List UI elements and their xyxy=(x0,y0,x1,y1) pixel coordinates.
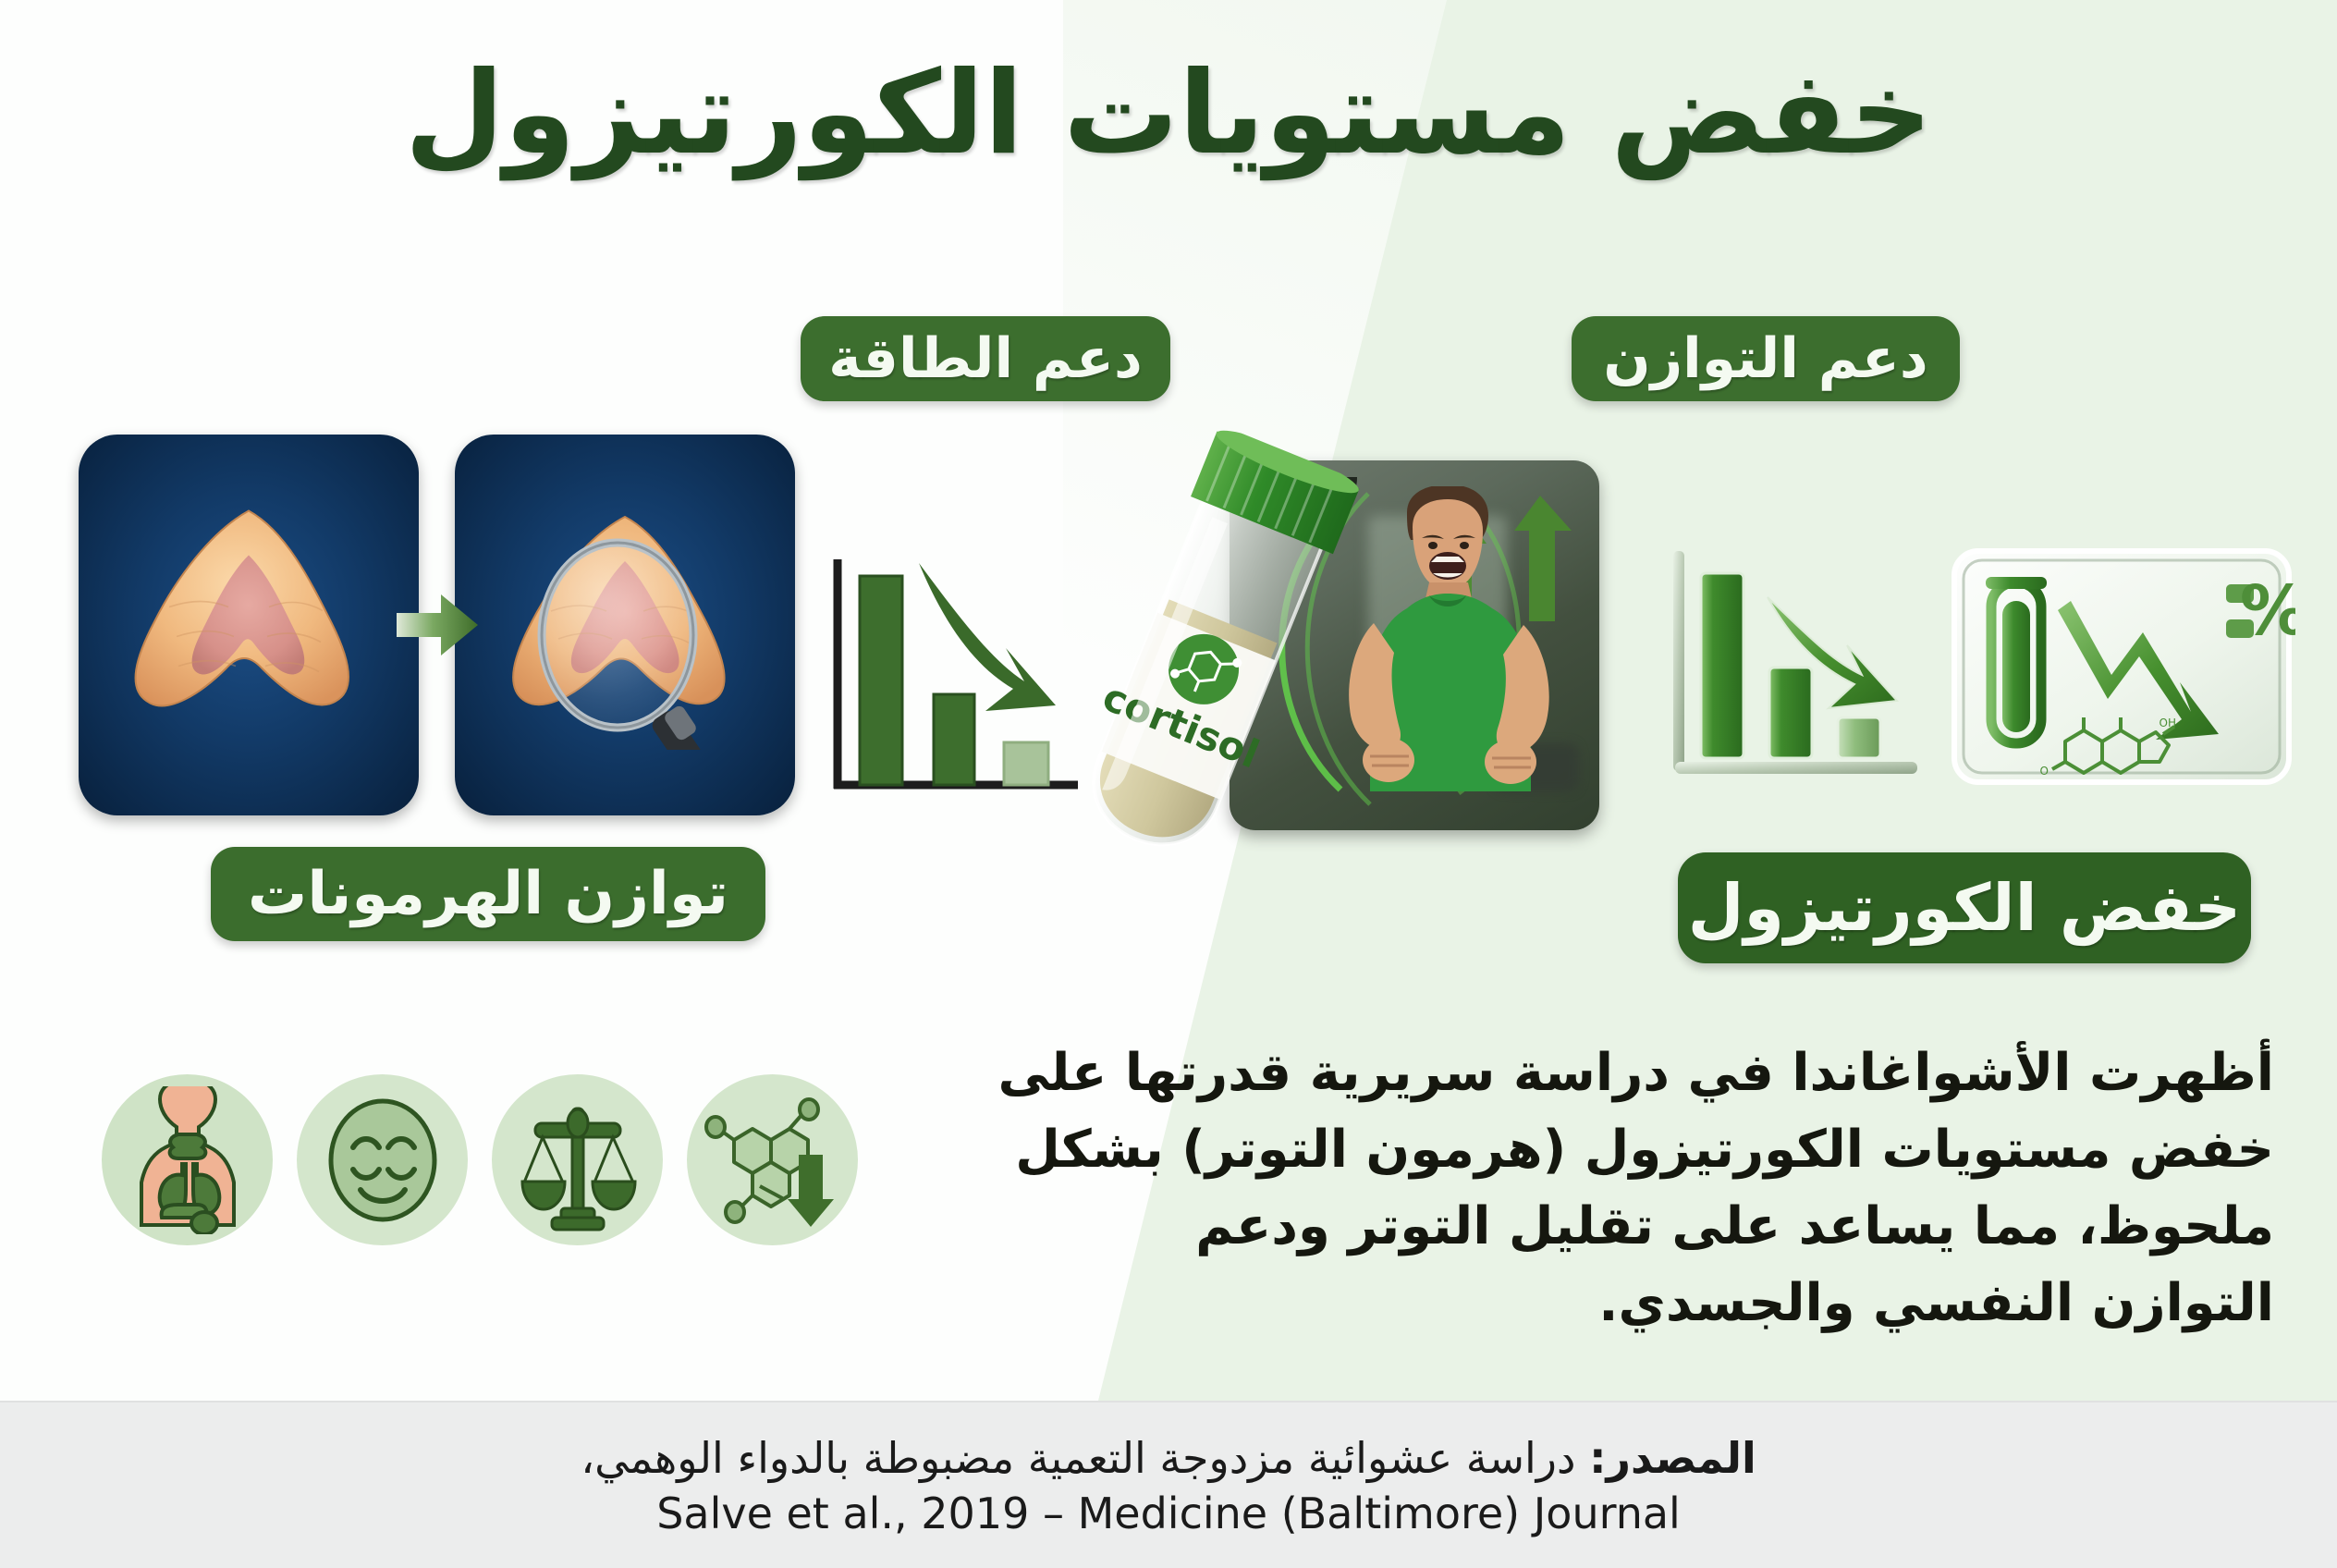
infographic-canvas: خفض مستويات الكورتيزول دعم الطاقة دعم ال… xyxy=(0,0,2337,1568)
cortisol-description-paragraph: أظهرت الأشواغاندا في دراسة سريرية قدرتها… xyxy=(1183,1035,2274,1342)
badge-support-energy: دعم الطاقة xyxy=(801,316,1170,401)
badge-support-balance: دعم التوازن xyxy=(1572,316,1960,401)
footer-source-label: المصدر: xyxy=(1589,1433,1756,1483)
source-footer: المصدر: دراسة عشوائية مزدوجة التعمية مضب… xyxy=(0,1401,2337,1568)
transition-arrow-icon xyxy=(395,589,480,661)
molecule-down-arrow-icon xyxy=(687,1074,858,1245)
paragraph-line-3: ملحوظ، مما يساعد على تقليل التوتر ودعم xyxy=(1183,1189,2274,1266)
benefit-icons-row xyxy=(100,1074,858,1268)
body-endocrine-icon xyxy=(102,1074,273,1245)
paragraph-line-2: خفض مستويات الكورتيزول (هرمون التوتر) بش… xyxy=(1183,1112,2274,1189)
balance-scale-icon xyxy=(492,1074,663,1245)
lab-results-glass-panel: % O OH xyxy=(1949,544,2295,793)
glossy-declining-bar-chart-icon xyxy=(1666,536,1943,814)
svg-text:%: % xyxy=(2240,571,2295,651)
magnifier-icon xyxy=(542,543,714,750)
footer-source-text: دراسة عشوائية مزدوجة التعمية مضبوطة بالد… xyxy=(581,1433,1575,1483)
svg-text:O: O xyxy=(2040,765,2049,778)
adrenal-gland-magnified-icon xyxy=(486,500,764,750)
page-title: خفض مستويات الكورتيزول xyxy=(0,46,2337,181)
footer-source-english: Salve et al., 2019 – Medicine (Baltimore… xyxy=(656,1488,1681,1538)
footer-source-arabic: المصدر: دراسة عشوائية مزدوجة التعمية مضب… xyxy=(581,1433,1756,1483)
badge-reduce-cortisol: خفض الكورتيزول xyxy=(1678,852,2251,963)
paragraph-line-4: التوازن النفسي والجسدي. xyxy=(1183,1266,2274,1342)
adrenal-card-normal xyxy=(79,435,419,815)
svg-text:OH: OH xyxy=(2160,717,2176,729)
calm-face-icon xyxy=(297,1074,468,1245)
badge-hormone-balance: توازن الهرمونات xyxy=(211,847,765,941)
cortisol-hero-visual: cortisol xyxy=(1230,460,1599,830)
adrenal-comparison-group xyxy=(79,435,795,815)
panel-test-tube-icon xyxy=(1986,577,2047,743)
adrenal-gland-normal-icon xyxy=(110,498,387,753)
paragraph-line-1: أظهرت الأشواغاندا في دراسة سريرية قدرتها… xyxy=(1183,1035,2274,1112)
adrenal-card-magnified xyxy=(455,435,795,815)
